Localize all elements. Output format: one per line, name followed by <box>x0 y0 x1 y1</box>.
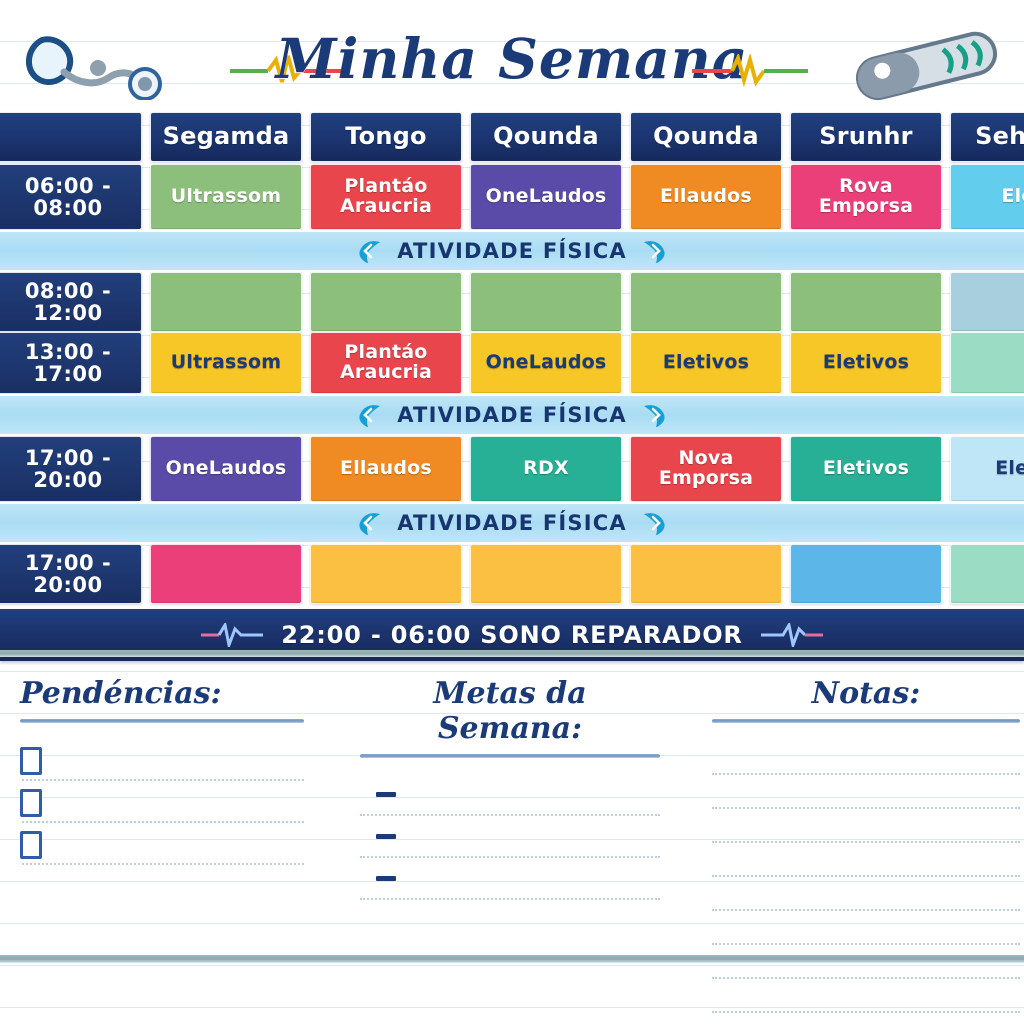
schedule-cell-label: Eletivos <box>820 353 912 373</box>
time-label: 06:00 - 08:00 <box>0 164 142 230</box>
write-line <box>22 821 304 823</box>
schedule-cell-label: Ellaudos <box>657 187 755 207</box>
schedule-cell[interactable] <box>790 544 942 604</box>
list-item[interactable] <box>360 864 660 906</box>
schedule-cell-label: RDX <box>520 459 572 479</box>
bottom-sections: Pendéncias: <box>0 662 1024 962</box>
metas-panel: Metas da Semana: <box>352 662 704 962</box>
time-label: 17:00 - 20:00 <box>0 436 142 502</box>
pendencias-panel: Pendéncias: <box>0 662 352 962</box>
schedule-cell[interactable]: Eletivos <box>790 436 942 502</box>
day-header-segunda[interactable]: Segamda <box>150 112 302 162</box>
day-header-sexta[interactable]: Srunhr <box>790 112 942 162</box>
schedule-cell[interactable]: Eletivos <box>790 332 942 394</box>
schedule-cell[interactable]: Eletiv <box>950 436 1024 502</box>
time-label: 17:00 - 20:00 <box>0 544 142 604</box>
pendencias-list <box>20 745 304 871</box>
bullet-dash-icon <box>376 792 396 797</box>
checkbox-icon[interactable] <box>20 831 42 859</box>
schedule-cell[interactable]: OneLaudos <box>470 164 622 230</box>
write-line <box>712 875 1020 877</box>
write-line <box>712 841 1020 843</box>
metas-title: Metas da Semana: <box>360 662 660 748</box>
write-line <box>360 898 660 900</box>
day-header-label: Qounda <box>650 124 762 149</box>
day-header-quinta[interactable]: Qounda <box>630 112 782 162</box>
write-line <box>712 807 1020 809</box>
schedule-cell-label: OneLaudos <box>483 187 610 207</box>
write-line <box>712 909 1020 911</box>
write-line <box>712 977 1020 979</box>
schedule-row: 17:00 - 20:00 <box>0 544 1024 604</box>
schedule-cell[interactable]: Ellaudos <box>310 436 462 502</box>
day-header-quarta[interactable]: Qounda <box>470 112 622 162</box>
schedule-cell-label: Nova Emporsa <box>631 449 781 489</box>
list-item[interactable] <box>20 745 304 787</box>
day-header-sabado[interactable]: Sehado <box>950 112 1024 162</box>
chevron-right-circle-icon[interactable] <box>641 510 667 536</box>
schedule-cell[interactable]: Ultrassom <box>150 332 302 394</box>
schedule-cell[interactable]: OneLaudos <box>470 332 622 394</box>
list-item[interactable] <box>712 881 1020 915</box>
chevron-right-circle-icon[interactable] <box>641 402 667 428</box>
schedule-cell[interactable]: Rova Emporsa <box>790 164 942 230</box>
write-line <box>360 814 660 816</box>
schedule-cell[interactable]: Ultrassom <box>150 164 302 230</box>
schedule-cell[interactable] <box>310 544 462 604</box>
section-divider-top <box>0 650 1024 657</box>
write-line <box>712 773 1020 775</box>
list-item[interactable] <box>20 787 304 829</box>
schedule-cell[interactable] <box>630 544 782 604</box>
schedule-cell-label: Eletivos <box>660 353 752 373</box>
time-column-header <box>0 112 142 162</box>
schedule-cell-label: Ellaudos <box>337 459 435 479</box>
list-item[interactable] <box>712 813 1020 847</box>
schedule-cell[interactable] <box>310 272 462 332</box>
pendencias-rule <box>20 719 304 723</box>
schedule-cell-label: Rova Emporsa <box>791 177 941 217</box>
bullet-dash-icon <box>376 834 396 839</box>
schedule-cell[interactable]: Eletivos <box>630 332 782 394</box>
schedule-cell-label: OneLaudos <box>483 353 610 373</box>
day-header-terca[interactable]: Tongo <box>310 112 462 162</box>
schedule-cell[interactable]: Plantáo Araucria <box>310 164 462 230</box>
notas-list <box>712 745 1020 1017</box>
write-line <box>712 1011 1020 1013</box>
ekg-line-icon-right <box>690 54 810 88</box>
list-item[interactable] <box>360 780 660 822</box>
list-item[interactable] <box>712 847 1020 881</box>
chevron-right-circle-icon[interactable] <box>641 238 667 264</box>
thermometer-icon <box>842 24 1010 104</box>
schedule-cell-label: Ultrassom <box>168 353 284 373</box>
activity-banner-label: ATIVIDADE FÍSICA <box>397 511 627 535</box>
day-header-label: Segamda <box>160 124 293 149</box>
schedule-cell[interactable] <box>470 544 622 604</box>
activity-banner-label: ATIVIDADE FÍSICA <box>397 403 627 427</box>
activity-banner: ATIVIDADE FÍSICA <box>0 394 1024 436</box>
day-header-label: Srunhr <box>816 124 915 149</box>
bullet-dash-icon <box>376 876 396 881</box>
list-item[interactable] <box>712 779 1020 813</box>
chevron-left-circle-icon[interactable] <box>357 238 383 264</box>
schedule-cell-label: Plantáo Araucria <box>311 177 461 217</box>
schedule-cell[interactable] <box>630 272 782 332</box>
activity-banner: ATIVIDADE FÍSICA <box>0 502 1024 544</box>
schedule-cell[interactable]: OneLaudos <box>150 436 302 502</box>
schedule-row: 06:00 - 08:00 Ultrassom Plantáo Araucria… <box>0 164 1024 230</box>
write-line <box>22 779 304 781</box>
schedule-cell-label: Eletiv <box>992 459 1024 479</box>
activity-banner: ATIVIDADE FÍSICA <box>0 230 1024 272</box>
planner-header: Minha Semana <box>0 0 1024 112</box>
chevron-left-circle-icon[interactable] <box>357 402 383 428</box>
notas-title: Notas: <box>712 662 1020 713</box>
day-header-row: Segamda Tongo Qounda Qounda Srunhr Sehad… <box>0 112 1024 164</box>
schedule-cell[interactable]: Eleti <box>950 164 1024 230</box>
pulse-line-icon-right <box>759 623 825 647</box>
schedule-row: 17:00 - 20:00 OneLaudos Ellaudos RDX Nov… <box>0 436 1024 502</box>
schedule-cell[interactable] <box>950 272 1024 332</box>
checkbox-icon[interactable] <box>20 747 42 775</box>
section-divider-bottom <box>0 955 1024 963</box>
list-item[interactable] <box>712 915 1020 949</box>
write-line <box>360 856 660 858</box>
weekly-planner-sheet: Minha Semana <box>0 0 1024 1024</box>
schedule-cell-label: Eletivos <box>820 459 912 479</box>
sleep-banner-label: 22:00 - 06:00 SONO REPARADOR <box>281 621 742 649</box>
list-item[interactable] <box>712 983 1020 1017</box>
schedule-cell-label: Ultrassom <box>168 187 284 207</box>
weekly-grid: Segamda Tongo Qounda Qounda Srunhr Sehad… <box>0 112 1024 661</box>
write-line <box>22 863 304 865</box>
schedule-cell[interactable]: Ellaudos <box>630 164 782 230</box>
time-label: 13:00 - 17:00 <box>0 332 142 394</box>
pendencias-title: Pendéncias: <box>20 662 304 713</box>
schedule-cell[interactable] <box>150 544 302 604</box>
schedule-cell[interactable] <box>950 544 1024 604</box>
notas-rule <box>712 719 1020 723</box>
activity-banner-label: ATIVIDADE FÍSICA <box>397 239 627 263</box>
day-header-label: Qounda <box>490 124 602 149</box>
schedule-cell[interactable]: Plantáo Araucria <box>310 332 462 394</box>
metas-list <box>360 780 660 906</box>
chevron-left-circle-icon[interactable] <box>357 510 383 536</box>
metas-rule <box>360 754 660 758</box>
schedule-row: 08:00 - 12:00 <box>0 272 1024 332</box>
schedule-cell[interactable]: Nova Emporsa <box>630 436 782 502</box>
schedule-cell[interactable] <box>950 332 1024 394</box>
checkbox-icon[interactable] <box>20 789 42 817</box>
list-item[interactable] <box>712 745 1020 779</box>
list-item[interactable] <box>360 822 660 864</box>
write-line <box>712 943 1020 945</box>
schedule-cell[interactable] <box>150 272 302 332</box>
day-header-label: Tongo <box>342 124 429 149</box>
pulse-line-icon-left <box>199 623 265 647</box>
schedule-cell[interactable]: RDX <box>470 436 622 502</box>
day-header-label: Sehado <box>972 124 1024 149</box>
schedule-cell-label: OneLaudos <box>163 459 290 479</box>
schedule-cell-label: Eleti <box>999 187 1024 207</box>
schedule-cell[interactable] <box>790 272 942 332</box>
schedule-cell[interactable] <box>470 272 622 332</box>
list-item[interactable] <box>20 829 304 871</box>
schedule-row: 13:00 - 17:00 Ultrassom Plantáo Araucria… <box>0 332 1024 394</box>
schedule-cell-label: Plantáo Araucria <box>311 343 461 383</box>
time-label: 08:00 - 12:00 <box>0 272 142 332</box>
notas-panel: Notas: <box>704 662 1024 962</box>
